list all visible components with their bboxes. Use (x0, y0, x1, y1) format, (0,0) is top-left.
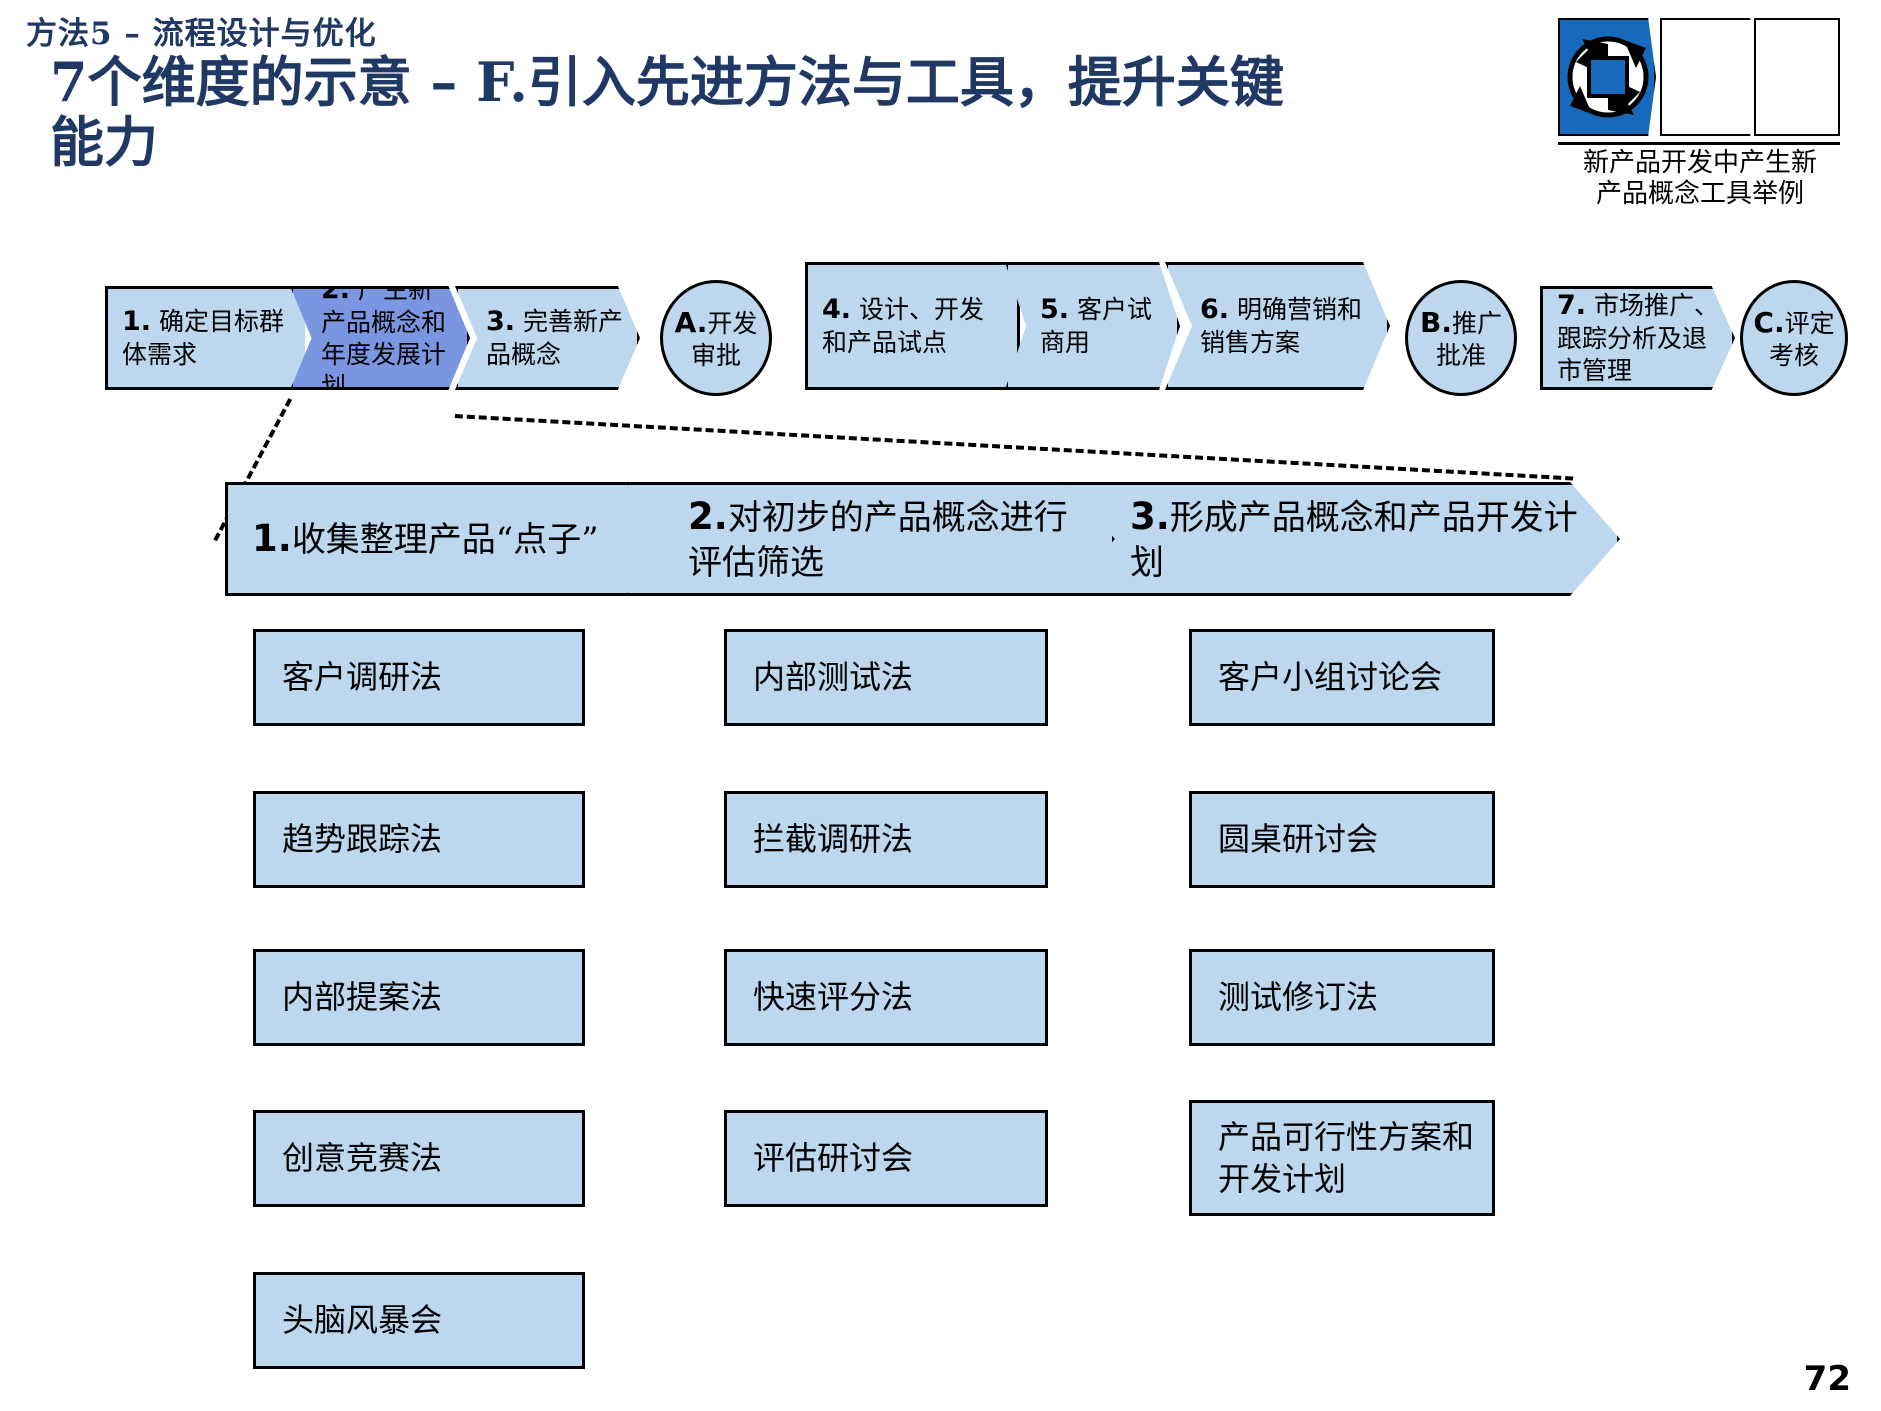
flow-step-5[interactable]: 5. 客户试商用 (1005, 262, 1180, 390)
subflow-stage-3[interactable]: 3.形成产品概念和产品开发计划 (1065, 482, 1620, 596)
flow-step-2[interactable]: 2. 产生新产品概念和年度发展计划 (290, 286, 470, 390)
subflow-stage-3-text: 3.形成产品概念和产品开发计划 (1068, 493, 1617, 585)
logo-caption: 新产品开发中产生新 产品概念工具举例 (1552, 148, 1848, 210)
flow-gate-a[interactable]: A.开发审批 (660, 280, 772, 396)
page-title: 7个维度的示意 – F.引入先进方法与工具，提升关键能力 (50, 52, 1290, 173)
method-box-label: 内部测试法 (727, 656, 925, 698)
method-box[interactable]: 客户调研法 (253, 629, 585, 726)
method-box-label: 测试修订法 (1192, 976, 1390, 1018)
flow-step-3[interactable]: 3. 完善新产品概念 (455, 286, 640, 390)
flow-step-5-num: 5. (1040, 294, 1069, 325)
method-box-label: 客户小组讨论会 (1192, 656, 1454, 698)
method-box-label: 产品可行性方案和开发计划 (1192, 1116, 1492, 1200)
flow-step-1[interactable]: 1. 确定目标群体需求 (105, 286, 305, 390)
subflow-stage-2-text: 2.对初步的产品概念进行评估筛选 (628, 493, 1112, 585)
flow-gate-b[interactable]: B.推广批准 (1405, 280, 1517, 396)
subflow-stage-2-num: 2. (688, 495, 728, 538)
flow-gate-c-text: C.评定考核 (1743, 305, 1845, 371)
method-box-label: 圆桌研讨会 (1192, 818, 1390, 860)
slide-canvas: 方法5 – 流程设计与优化 7个维度的示意 – F.引入先进方法与工具，提升关键… (0, 0, 1881, 1411)
flow-step-2-text: 2. 产生新产品概念和年度发展计划 (293, 273, 467, 404)
method-box-label: 快速评分法 (727, 976, 925, 1018)
subflow-stage-1-num: 1. (252, 517, 292, 560)
flow-step-1-num: 1. (122, 306, 151, 337)
page-number: 72 (1804, 1359, 1851, 1399)
flow-step-6[interactable]: 6. 明确营销和销售方案 (1165, 262, 1390, 390)
flow-step-6-num: 6. (1200, 294, 1229, 325)
logo-panel-white-2 (1754, 18, 1840, 136)
flow-step-1-text: 1. 确定目标群体需求 (108, 305, 305, 372)
method-box-label: 评估研讨会 (727, 1137, 925, 1179)
flow-step-7[interactable]: 7. 市场推广、跟踪分析及退市管理 (1540, 286, 1735, 390)
method-box-label: 客户调研法 (256, 656, 454, 698)
flow-step-5-text: 5. 客户试商用 (1008, 293, 1177, 360)
subflow-stage-1-text: 1.收集整理产品“点子” (228, 515, 617, 563)
method-box[interactable]: 圆桌研讨会 (1189, 791, 1495, 888)
logo-caption-line1: 新产品开发中产生新 (1552, 148, 1848, 179)
method-box[interactable]: 测试修订法 (1189, 949, 1495, 1046)
flow-step-3-num: 3. (486, 306, 515, 337)
subflow-stage-2[interactable]: 2.对初步的产品概念进行评估筛选 (625, 482, 1115, 596)
method-box-label: 创意竞赛法 (256, 1137, 454, 1179)
logo: 新产品开发中产生新 产品概念工具举例 (1558, 18, 1858, 136)
method-box-label: 趋势跟踪法 (256, 818, 454, 860)
flow-gate-a-num: A. (675, 306, 708, 339)
subflow-stage-2-label: 对初步的产品概念进行评估筛选 (688, 498, 1068, 583)
connector-right-dashed (455, 414, 1573, 481)
method-box[interactable]: 快速评分法 (724, 949, 1048, 1046)
subflow-stage-1[interactable]: 1.收集整理产品“点子” (225, 482, 675, 596)
flow-step-4-num: 4. (822, 294, 851, 325)
flow-step-3-text: 3. 完善新产品概念 (458, 305, 637, 372)
flow-step-4-text: 4. 设计、开发和产品试点 (808, 293, 1017, 360)
method-box[interactable]: 评估研讨会 (724, 1110, 1048, 1207)
flow-step-7-text: 7. 市场推广、跟踪分析及退市管理 (1543, 289, 1732, 388)
method-box-label: 头脑风暴会 (256, 1299, 454, 1341)
method-box[interactable]: 创意竞赛法 (253, 1110, 585, 1207)
cycle-arrows-icon (1562, 22, 1654, 132)
method-box-label: 内部提案法 (256, 976, 454, 1018)
flow-gate-b-num: B. (1420, 306, 1452, 339)
method-box[interactable]: 内部测试法 (724, 629, 1048, 726)
flow-step-2-num: 2. (321, 274, 350, 305)
method-box[interactable]: 产品可行性方案和开发计划 (1189, 1100, 1495, 1216)
method-box[interactable]: 头脑风暴会 (253, 1272, 585, 1369)
flow-step-4[interactable]: 4. 设计、开发和产品试点 (805, 262, 1020, 390)
flow-gate-a-text: A.开发审批 (663, 305, 769, 371)
flow-gate-b-text: B.推广批准 (1408, 305, 1514, 371)
method-box-label: 拦截调研法 (727, 818, 925, 860)
method-box[interactable]: 拦截调研法 (724, 791, 1048, 888)
method-box[interactable]: 客户小组讨论会 (1189, 629, 1495, 726)
logo-caption-line2: 产品概念工具举例 (1552, 179, 1848, 210)
flow-gate-c-num: C. (1753, 306, 1784, 339)
method-box[interactable]: 内部提案法 (253, 949, 585, 1046)
logo-marks (1558, 18, 1840, 136)
flow-step-6-text: 6. 明确营销和销售方案 (1168, 293, 1387, 360)
logo-divider (1558, 142, 1840, 145)
logo-panel-white-1 (1660, 18, 1758, 136)
flow-step-7-num: 7. (1557, 290, 1586, 321)
method-box[interactable]: 趋势跟踪法 (253, 791, 585, 888)
subflow-stage-1-label: 收集整理产品“点子” (292, 520, 599, 560)
subflow-stage-3-label: 形成产品概念和产品开发计划 (1130, 498, 1578, 583)
subflow-stage-3-num: 3. (1130, 495, 1170, 538)
flow-gate-c[interactable]: C.评定考核 (1740, 280, 1848, 396)
slide-kicker: 方法5 – 流程设计与优化 (26, 8, 377, 53)
